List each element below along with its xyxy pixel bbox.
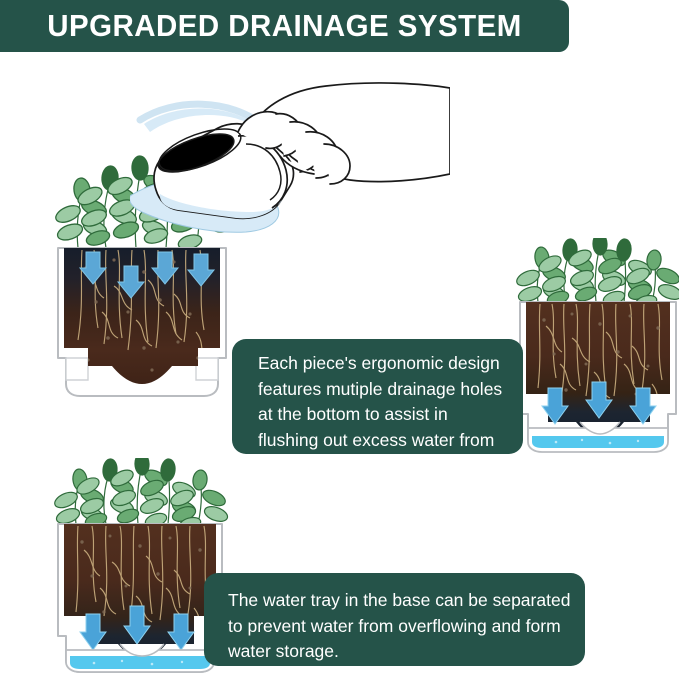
header-banner: UPGRADED DRAINAGE SYSTEM: [0, 0, 569, 52]
planter-right: [512, 238, 679, 470]
water-tray-callout: The water tray in the base can be separa…: [204, 573, 585, 666]
water-direction-arrows-down: [542, 382, 656, 424]
drainage-holes-callout: Each piece's ergonomic design features m…: [232, 339, 523, 454]
tray-water: [532, 436, 664, 448]
hand-pouring-watering-can: [130, 78, 450, 278]
foliage: [52, 458, 229, 533]
tray-water: [70, 656, 210, 669]
foliage: [514, 238, 679, 311]
page-title: UPGRADED DRAINAGE SYSTEM: [14, 0, 555, 52]
callout-text: The water tray in the base can be separa…: [228, 588, 571, 665]
infographic-canvas: UPGRADED DRAINAGE SYSTEM: [0, 0, 679, 691]
callout-text: Each piece's ergonomic design features m…: [258, 351, 509, 480]
